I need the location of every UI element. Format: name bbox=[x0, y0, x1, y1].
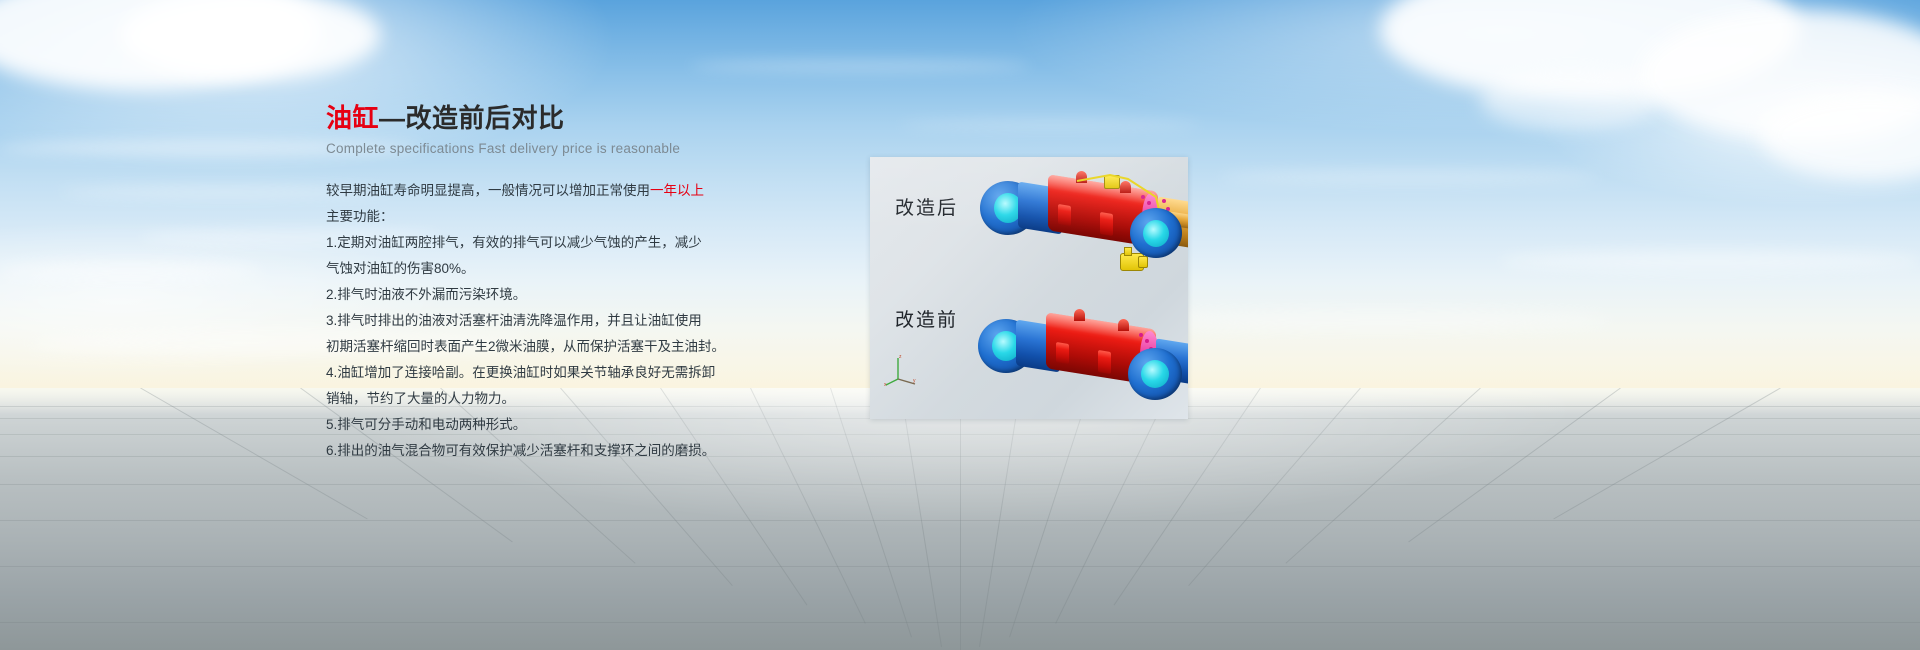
label-before-modification: 改造前 bbox=[895, 305, 958, 332]
feature-line: 销轴，节约了大量的人力物力。 bbox=[326, 386, 746, 411]
feature-line-highlight: 一年以上 bbox=[650, 183, 704, 198]
feature-line-text: 较早期油缸寿命明显提高，一般情况可以增加正常使用 bbox=[326, 183, 650, 198]
page-title-rest: —改造前后对比 bbox=[379, 103, 565, 133]
svg-text:y: y bbox=[913, 378, 916, 384]
feature-line: 3.排气时排出的油液对活塞杆油清洗降温作用，并且让油缸使用 bbox=[326, 308, 746, 333]
coordinate-axis-icon: z x y bbox=[884, 353, 918, 387]
feature-line: 6.排出的油气混合物可有效保护减少活塞杆和支撑环之间的磨损。 bbox=[326, 438, 746, 463]
banner-copy: 油缸—改造前后对比 Complete specifications Fast d… bbox=[326, 104, 746, 464]
page-subtitle: Complete specifications Fast delivery pr… bbox=[326, 141, 746, 156]
svg-text:z: z bbox=[899, 354, 902, 360]
feature-line: 5.排气可分手动和电动两种形式。 bbox=[326, 412, 746, 437]
page-title: 油缸—改造前后对比 bbox=[326, 104, 746, 134]
feature-line: 较早期油缸寿命明显提高，一般情况可以增加正常使用一年以上 bbox=[326, 178, 746, 203]
banner-stage: 油缸—改造前后对比 Complete specifications Fast d… bbox=[0, 0, 1920, 650]
feature-line: 4.油缸增加了连接哈副。在更换油缸时如果关节轴承良好无需拆卸 bbox=[326, 360, 746, 385]
feature-line: 1.定期对油缸两腔排气，有效的排气可以减少气蚀的产生，减少 bbox=[326, 230, 746, 255]
feature-text-block: 较早期油缸寿命明显提高，一般情况可以增加正常使用一年以上 主要功能： 1.定期对… bbox=[326, 178, 746, 463]
feature-line: 主要功能： bbox=[326, 204, 746, 229]
pavement-ground bbox=[0, 388, 1920, 650]
label-after-modification: 改造后 bbox=[895, 193, 958, 220]
feature-line: 气蚀对油缸的伤害80%。 bbox=[326, 256, 746, 281]
page-title-highlight: 油缸 bbox=[326, 103, 379, 133]
feature-line: 2.排气时油液不外漏而污染环境。 bbox=[326, 282, 746, 307]
feature-line: 初期活塞杆缩回时表面产生2微米油膜，从而保护活塞干及主油封。 bbox=[326, 334, 746, 359]
